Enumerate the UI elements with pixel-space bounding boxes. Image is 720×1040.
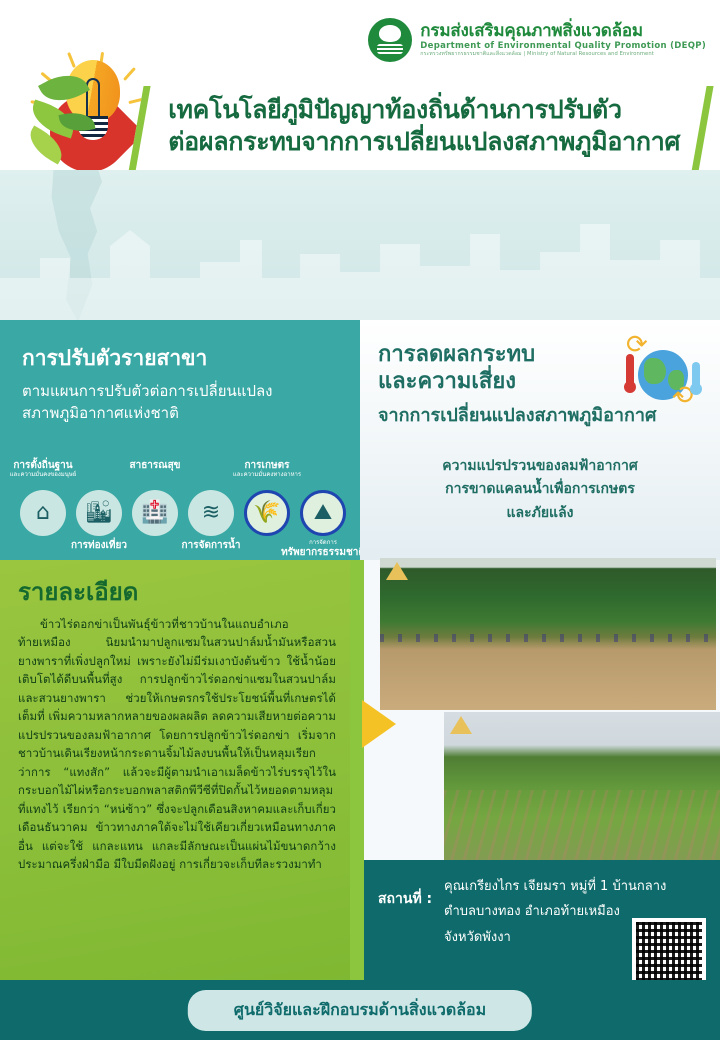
sector-label: การจัดการน้ำ bbox=[151, 540, 271, 552]
city-skyline-decoration bbox=[0, 200, 720, 320]
sector-item-tourism[interactable]: 🏙 การท่องเที่ยว bbox=[76, 490, 122, 536]
sector-caption: สาธารณสุข bbox=[95, 460, 215, 472]
technology-name-band: ชื่อเทคโนโลยี : “ปลูกข้าวไร่ดอกข่า” แซมใ… bbox=[0, 170, 720, 320]
villagers-planting-upland-rice-photo bbox=[380, 558, 716, 710]
cold-thermometer-icon bbox=[692, 362, 700, 390]
risk-item: และภัยแล้ง bbox=[378, 502, 702, 526]
rice-field-on-slope-photo bbox=[444, 712, 720, 862]
photo-badge-icon bbox=[450, 716, 472, 734]
filament-icon bbox=[86, 78, 100, 118]
risk-item: ความแปรปรวนของลมฟ้าอากาศ bbox=[378, 455, 702, 479]
deqp-emblem-icon bbox=[368, 18, 412, 62]
ministry-name: กระทรวงทรัพยากรธรรมชาติและสิ่งแวดล้อม | … bbox=[420, 52, 706, 57]
qr-pattern bbox=[636, 922, 702, 988]
sector-caption: การเกษตร และความมั่นคงทางอาหาร bbox=[207, 460, 327, 478]
water-management-icon: ≋ bbox=[188, 490, 234, 536]
sector-panel-subheading-2: สภาพภูมิอากาศแห่งชาติ bbox=[22, 403, 344, 425]
lightbulb-leaf-pin-logo bbox=[24, 52, 144, 187]
sector-panel-heading: การปรับตัวรายสาขา bbox=[22, 342, 344, 375]
sector-caption: การท่องเที่ยว bbox=[39, 540, 159, 552]
deqp-logo-text: กรมส่งเสริมคุณภาพสิ่งแวดล้อม Department … bbox=[420, 23, 706, 57]
details-panel: รายละเอียด ข้าวไร่ดอกข่าเป็นพันธุ์ข้าวที… bbox=[0, 560, 350, 980]
sector-label: สาธารณสุข bbox=[95, 460, 215, 472]
globe-thermometer-icon: ⟳ ⟳ bbox=[612, 334, 704, 420]
agency-name-en: Department of Environmental Quality Prom… bbox=[420, 42, 706, 51]
location-line: คุณเกรียงไกร เจียมรา หมู่ที่ 1 บ้านกลาง bbox=[444, 874, 666, 899]
poster-title-ribbon: เทคโนโลยีภูมิปัญญาท้องถิ่นด้านการปรับตัว… bbox=[128, 86, 713, 172]
sector-item-public-health[interactable]: 🏥 สาธารณสุข bbox=[132, 490, 178, 536]
ray-icon bbox=[123, 67, 136, 81]
details-body-text: ข้าวไร่ดอกข่าเป็นพันธุ์ข้าวที่ชาวบ้านในแ… bbox=[18, 615, 336, 874]
sector-label: การท่องเที่ยว bbox=[39, 540, 159, 552]
deqp-logo: กรมส่งเสริมคุณภาพสิ่งแวดล้อม Department … bbox=[368, 18, 706, 62]
page-title-line-2: ต่อผลกระทบจากการเปลี่ยนแปลงสภาพภูมิอากาศ bbox=[168, 126, 700, 158]
footer-organization-label: ศูนย์วิจัยและฝึกอบรมด้านสิ่งแวดล้อม bbox=[188, 990, 532, 1031]
location-label: สถานที่ : bbox=[378, 888, 432, 910]
agriculture-icon: 🌾 bbox=[244, 490, 290, 536]
natural-resources-icon: ⛰ bbox=[300, 490, 346, 536]
green-divider-bar bbox=[350, 560, 364, 980]
risk-reduction-panel: ⟳ ⟳ การลดผลกระทบ และความเสี่ยง จากการเปล… bbox=[360, 320, 720, 560]
agency-name-th: กรมส่งเสริมคุณภาพสิ่งแวดล้อม bbox=[420, 23, 706, 41]
sector-item-agriculture[interactable]: 🌾 การเกษตร และความมั่นคงทางอาหาร bbox=[244, 490, 290, 536]
sector-panel-subheading-1: ตามแผนการปรับตัวต่อการเปลี่ยนแปลง bbox=[22, 381, 344, 403]
risk-item: การขาดแคลนน้ำเพื่อการเกษตร bbox=[378, 478, 702, 502]
photo-badge-icon bbox=[386, 562, 408, 580]
sector-caption: การจัดการน้ำ bbox=[151, 540, 271, 552]
footer-band: ศูนย์วิจัยและฝึกอบรมด้านสิ่งแวดล้อม bbox=[0, 980, 720, 1040]
sector-label: การเกษตร bbox=[207, 460, 327, 472]
header-band: กรมส่งเสริมคุณภาพสิ่งแวดล้อม Department … bbox=[0, 0, 720, 190]
settlement-icon: ⌂ bbox=[20, 490, 66, 536]
sector-item-settlement[interactable]: ⌂ การตั้งถิ่นฐาน และความมั่นคงของมนุษย์ bbox=[20, 490, 66, 536]
sector-caption: การตั้งถิ่นฐาน และความมั่นคงของมนุษย์ bbox=[0, 460, 103, 478]
sector-item-water-management[interactable]: ≋ การจัดการน้ำ bbox=[188, 490, 234, 536]
sector-sublabel: และความมั่นคงทางอาหาร bbox=[207, 472, 327, 479]
ray-icon bbox=[67, 52, 76, 68]
poster-root: กรมส่งเสริมคุณภาพสิ่งแวดล้อม Department … bbox=[0, 0, 720, 1040]
sector-label: การตั้งถิ่นฐาน bbox=[0, 460, 103, 472]
details-heading: รายละเอียด bbox=[18, 572, 336, 611]
sector-item-natural-resources[interactable]: ⛰ การจัดการ ทรัพยากรธรรมชาติ bbox=[300, 490, 346, 536]
risk-items-list: ความแปรปรวนของลมฟ้าอากาศ การขาดแคลนน้ำเพ… bbox=[378, 455, 702, 526]
tourism-icon: 🏙 bbox=[76, 490, 122, 536]
sector-icon-row: ⌂ การตั้งถิ่นฐาน และความมั่นคงของมนุษย์ … bbox=[6, 452, 360, 557]
sector-sublabel: และความมั่นคงของมนุษย์ bbox=[0, 472, 103, 479]
health-icon: 🏥 bbox=[132, 490, 178, 536]
location-panel: สถานที่ : คุณเกรียงไกร เจียมรา หมู่ที่ 1… bbox=[364, 860, 720, 980]
hot-thermometer-icon bbox=[626, 354, 634, 388]
page-title-line-1: เทคโนโลยีภูมิปัญญาท้องถิ่นด้านการปรับตัว bbox=[168, 94, 700, 126]
